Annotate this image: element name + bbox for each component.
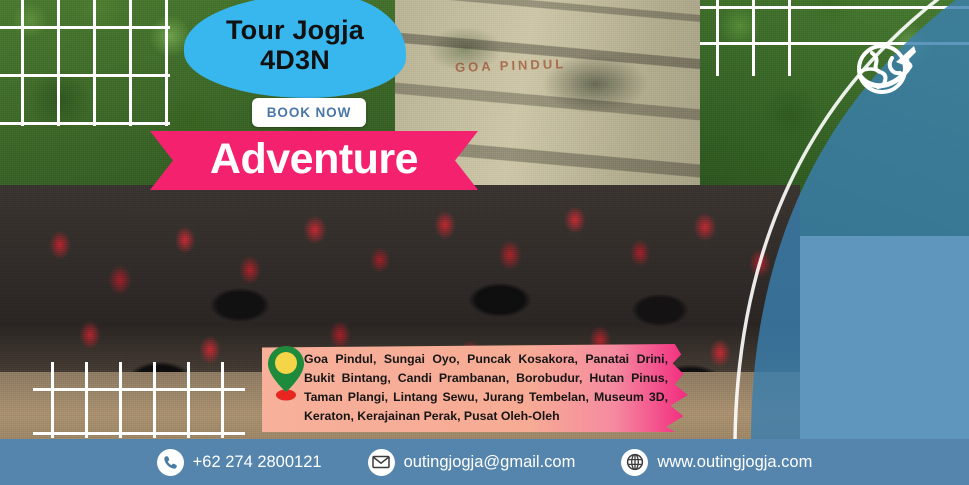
title-line-1: Tour Jogja (226, 17, 364, 45)
contact-email[interactable]: outingjogja@gmail.com (368, 449, 576, 476)
destinations-list-text: Goa Pindul, Sungai Oyo, Puncak Kosakora,… (304, 346, 668, 430)
title-line-2: 4D3N (260, 47, 330, 75)
contact-email-value: outingjogja@gmail.com (404, 453, 576, 472)
contact-phone[interactable]: +62 274 2800121 (157, 449, 322, 476)
destinations-box: Goa Pindul, Sungai Oyo, Puncak Kosakora,… (262, 344, 692, 432)
phone-icon (157, 449, 184, 476)
contact-phone-value: +62 274 2800121 (193, 453, 322, 472)
globe-airplane-icon (852, 36, 918, 98)
email-icon (368, 449, 395, 476)
footer-contact-bar: +62 274 2800121 outingjogja@gmail.com ww… (0, 439, 969, 485)
title-blob: Tour Jogja 4D3N (184, 0, 406, 98)
tour-advertisement-banner: GOA PINDUL (0, 0, 969, 485)
contact-website-value: www.outingjogja.com (657, 453, 812, 472)
title-text-group: Tour Jogja 4D3N (184, 0, 406, 98)
map-pin-icon (264, 340, 308, 402)
adventure-ribbon: Adventure (150, 131, 478, 190)
contact-website[interactable]: www.outingjogja.com (621, 449, 812, 476)
globe-icon (621, 449, 648, 476)
adventure-headline: Adventure (150, 131, 478, 190)
book-now-button[interactable]: BOOK NOW (252, 98, 366, 127)
